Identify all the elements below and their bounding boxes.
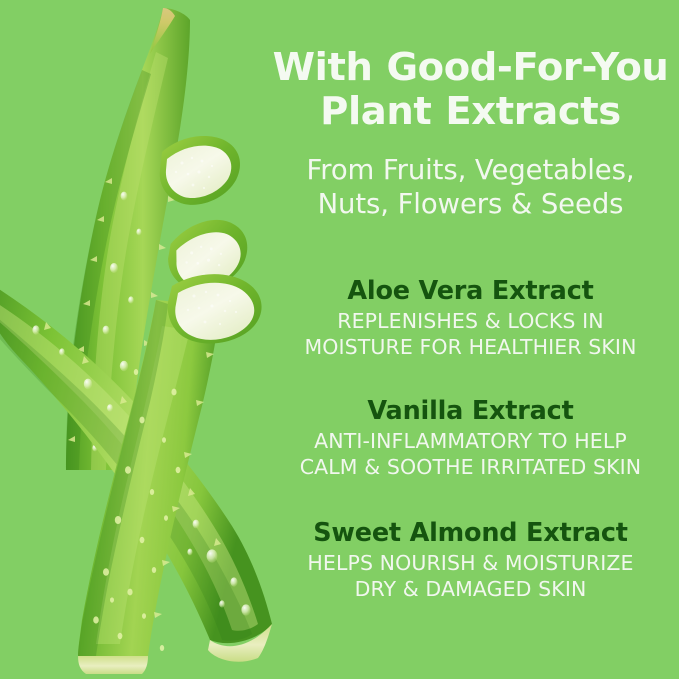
extract-item-sweet-almond: Sweet Almond Extract HELPS NOURISH & MOI… xyxy=(262,518,679,602)
page-title: With Good-For-You Plant Extracts xyxy=(262,46,679,133)
aloe-slice-top xyxy=(160,136,240,205)
headline-line-2: Plant Extracts xyxy=(262,90,679,134)
extract-name: Sweet Almond Extract xyxy=(262,518,679,548)
crossing-leaf-left xyxy=(78,300,220,674)
headline-line-1: With Good-For-You xyxy=(262,46,679,90)
subhead-line-2: Nuts, Flowers & Seeds xyxy=(262,187,679,221)
extract-description-line-2: CALM & SOOTHE IRRITATED SKIN xyxy=(262,455,679,481)
text-column: With Good-For-You Plant Extracts From Fr… xyxy=(262,0,679,679)
page-subtitle: From Fruits, Vegetables, Nuts, Flowers &… xyxy=(262,153,679,221)
extract-description-line-1: HELPS NOURISH & MOISTURIZE xyxy=(262,551,679,577)
aloe-vera-photo xyxy=(0,0,300,679)
extract-description-line-2: DRY & DAMAGED SKIN xyxy=(262,577,679,603)
subhead-line-1: From Fruits, Vegetables, xyxy=(262,153,679,187)
extract-item-aloe-vera: Aloe Vera Extract REPLENISHES & LOCKS IN… xyxy=(262,276,679,360)
crossing-leaf-right xyxy=(0,282,272,662)
extract-item-vanilla: Vanilla Extract ANTI-INFLAMMATORY TO HEL… xyxy=(262,396,679,480)
extract-description: REPLENISHES & LOCKS IN MOISTURE FOR HEAL… xyxy=(262,309,679,360)
extract-name: Aloe Vera Extract xyxy=(262,276,679,306)
extract-description: ANTI-INFLAMMATORY TO HELP CALM & SOOTHE … xyxy=(262,429,679,480)
tall-aloe-leaf xyxy=(66,8,190,470)
aloe-slice-middle xyxy=(164,217,251,293)
aloe-slice-bottom xyxy=(168,274,262,343)
extract-description-line-1: ANTI-INFLAMMATORY TO HELP xyxy=(262,429,679,455)
extract-description-line-1: REPLENISHES & LOCKS IN xyxy=(262,309,679,335)
infographic-canvas: With Good-For-You Plant Extracts From Fr… xyxy=(0,0,679,679)
extract-name: Vanilla Extract xyxy=(262,396,679,426)
extract-description: HELPS NOURISH & MOISTURIZE DRY & DAMAGED… xyxy=(262,551,679,602)
extract-description-line-2: MOISTURE FOR HEALTHIER SKIN xyxy=(262,335,679,361)
